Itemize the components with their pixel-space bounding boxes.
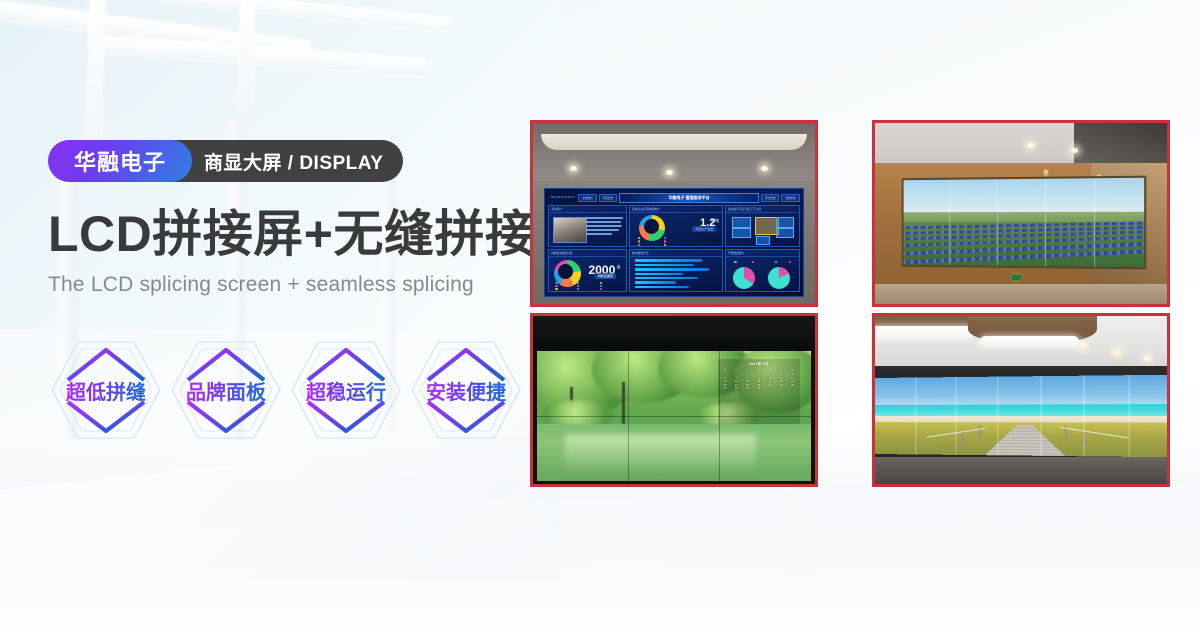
downlight xyxy=(1027,143,1034,148)
dashboard-tab[interactable]: 管理系统 xyxy=(781,194,799,202)
flow-node xyxy=(732,217,752,227)
product-photo-solar xyxy=(872,120,1170,307)
product-photo-beach xyxy=(872,313,1170,487)
calendar-day xyxy=(765,387,776,390)
dashboard-tab[interactable]: 环境监测 xyxy=(761,194,779,202)
bar xyxy=(635,259,701,261)
bar xyxy=(635,273,683,275)
photo-content: 2021年 6月 日 一 二 三 四 五 六 12345678910111213… xyxy=(533,316,815,484)
legend-dot xyxy=(555,288,557,290)
bar xyxy=(635,286,688,288)
videowall-screen xyxy=(875,375,1170,457)
legend-dot xyxy=(664,244,666,246)
brand-badge: 商显大屏 / DISPLAY 华融电子 xyxy=(48,140,192,182)
dashboard-card-area: 种植区域面积(亩) 2000 亩 种植总面积 xyxy=(548,249,627,291)
dashboard-tab[interactable]: 系统概览 xyxy=(578,194,596,202)
legend-dot xyxy=(555,282,557,284)
pie-chart xyxy=(768,267,790,289)
flow-node xyxy=(776,217,794,227)
flow-node xyxy=(756,236,770,245)
rope-post xyxy=(961,431,963,447)
calendar-title: 2021年 6月 xyxy=(720,361,798,367)
donut-hole xyxy=(558,264,573,279)
tree-trunk xyxy=(622,382,625,423)
background-wedge xyxy=(0,430,560,580)
calendar-weekday: 二 xyxy=(742,368,753,372)
legend-dot xyxy=(555,285,557,287)
rope-post xyxy=(979,425,981,437)
flow-node xyxy=(732,228,752,237)
ceiling-light xyxy=(872,326,974,338)
ceiling-light xyxy=(980,336,1079,346)
dashboard-header: 2021-06-13 16:01:27 系统概览 环境监测 华融电子 管理服务平… xyxy=(548,192,799,203)
water-reflection xyxy=(565,434,756,473)
legend-dot xyxy=(577,285,579,287)
background-smudge xyxy=(700,500,900,620)
legend-dot xyxy=(664,240,666,242)
videowall-screen: 2021-06-13 16:01:27 系统概览 环境监测 华融电子 管理服务平… xyxy=(544,188,803,297)
card-header: 基地企业资源数据统计 xyxy=(630,206,722,213)
calendar-weekday: 六 xyxy=(787,368,798,372)
legend-dot xyxy=(789,261,791,263)
calendar-day: 29 xyxy=(742,387,753,390)
product-photo-dashboard: 2021-06-13 16:01:27 系统概览 环境监测 华融电子 管理服务平… xyxy=(530,120,818,307)
legend-dot xyxy=(600,285,602,287)
dashboard-card-chain: 生态循环农业与加工产业链 xyxy=(725,205,800,247)
legend-dot xyxy=(664,237,666,239)
background-beam xyxy=(0,0,310,60)
dashboard-card-pies: 产量数据统计 xyxy=(725,249,800,291)
metric-unit: 亩 xyxy=(617,264,621,270)
exit-sign xyxy=(1012,275,1021,280)
feature-item-3: 超稳运行 xyxy=(288,336,404,444)
legend-dot xyxy=(638,244,640,246)
dashboard-grid: 基地简介 基地企业资源数据统计 xyxy=(548,205,799,292)
card-thumbnail xyxy=(553,217,587,242)
dashboard-card-intro: 基地简介 xyxy=(548,205,627,247)
card-header: 生态循环农业与加工产业链 xyxy=(726,206,799,213)
feature-label: 超稳运行 xyxy=(306,376,386,405)
feature-label: 安装便捷 xyxy=(426,376,506,405)
dashboard-title: 华融电子 管理服务平台 xyxy=(619,193,759,203)
dashboard-card-bars: 种植量统计表 xyxy=(629,249,723,291)
product-photo-lake: 2021年 6月 日 一 二 三 四 五 六 12345678910111213… xyxy=(530,313,818,487)
legend-dot xyxy=(638,240,640,242)
ceiling-cove xyxy=(541,134,806,150)
metric-unit: 万吨 xyxy=(711,218,719,224)
metric-note: 年度生产总量 xyxy=(692,226,716,232)
card-header: 种植区域面积(亩) xyxy=(549,250,626,257)
card-text-lines xyxy=(586,217,623,236)
calendar-weekday: 四 xyxy=(765,368,776,372)
page-subtitle: The LCD splicing screen + seamless splic… xyxy=(48,273,528,297)
category-badge-label: 商显大屏 / DISPLAY xyxy=(166,140,403,182)
feature-item-4: 安装便捷 xyxy=(408,336,524,444)
brand-badge-label: 华融电子 xyxy=(48,140,192,182)
videowall-screen xyxy=(904,178,1145,267)
legend-dot xyxy=(775,261,777,263)
metric-note: 种植总面积 xyxy=(595,273,616,279)
dashboard-timestamp: 2021-06-13 16:01:27 xyxy=(548,196,576,199)
card-header: 种植量统计表 xyxy=(630,250,722,257)
bar xyxy=(635,268,708,270)
photo-content: 2021-06-13 16:01:27 系统概览 环境监测 华融电子 管理服务平… xyxy=(533,123,815,304)
background-beam xyxy=(239,0,254,110)
calendar-weekday: 五 xyxy=(776,368,787,372)
legend-dot xyxy=(577,282,579,284)
videowall-frame xyxy=(902,176,1147,269)
calendar-day: 27 xyxy=(720,387,731,390)
legend-dot xyxy=(600,288,602,290)
ceiling xyxy=(533,123,815,185)
calendar-weekdays: 日 一 二 三 四 五 六 xyxy=(720,368,798,372)
headline-block: 商显大屏 / DISPLAY 华融电子 LCD拼接屏+无缝拼接 The LCD … xyxy=(48,140,528,297)
photo-content xyxy=(875,316,1167,484)
dashboard-card-resource: 基地企业资源数据统计 1.2 万吨 年度生产总量 xyxy=(629,205,723,247)
videowall-screen: 2021年 6月 日 一 二 三 四 五 六 12345678910111213… xyxy=(537,351,811,480)
page-title: LCD拼接屏+无缝拼接 xyxy=(48,208,528,261)
calendar-weekday: 日 xyxy=(720,368,731,372)
feature-label: 品牌面板 xyxy=(186,376,266,405)
card-header: 产量数据统计 xyxy=(726,250,799,257)
bar xyxy=(635,264,694,266)
flow-node xyxy=(755,217,779,235)
background-beam xyxy=(85,0,105,140)
calendar-weekday: 三 xyxy=(753,368,764,372)
calendar-day xyxy=(776,387,787,390)
feature-label: 超低拼缝 xyxy=(66,376,146,405)
bar xyxy=(635,281,675,283)
flow-node xyxy=(776,228,794,237)
feature-item-2: 品牌面板 xyxy=(168,336,284,444)
legend-dot xyxy=(638,237,640,239)
downlight xyxy=(666,170,673,175)
pie-chart xyxy=(733,267,755,289)
floor xyxy=(875,457,1167,484)
legend-dot xyxy=(734,261,736,263)
background-beam xyxy=(150,0,450,32)
background-diamond xyxy=(447,482,603,638)
legend-dot xyxy=(752,261,754,263)
card-header: 基地简介 xyxy=(549,206,626,213)
calendar-day: 26 xyxy=(787,384,798,387)
legend-dot xyxy=(577,288,579,290)
downlight xyxy=(1114,350,1121,355)
calendar-day: 30 xyxy=(753,387,764,390)
feature-list: 超低拼缝 品牌面板 超稳运行 xyxy=(48,336,524,444)
photo-content xyxy=(875,123,1167,304)
calendar-days: 1234567891011121314151617181920212223242… xyxy=(720,373,798,390)
calendar-overlay: 2021年 6月 日 一 二 三 四 五 六 12345678910111213… xyxy=(718,359,800,424)
solar-panel-rows xyxy=(904,178,1145,267)
upper-bezel xyxy=(533,316,815,348)
bar xyxy=(635,277,697,279)
floor xyxy=(875,284,1167,304)
feature-item-1: 超低拼缝 xyxy=(48,336,164,444)
dashboard-tab[interactable]: 环境监测 xyxy=(599,194,617,202)
calendar-day: 28 xyxy=(731,387,742,390)
sky xyxy=(875,375,1170,409)
calendar-weekday: 一 xyxy=(731,368,742,372)
legend-dot xyxy=(600,282,602,284)
display-product-banner: 商显大屏 / DISPLAY 华融电子 LCD拼接屏+无缝拼接 The LCD … xyxy=(0,0,1200,640)
background-beam xyxy=(95,36,425,76)
background-smudge xyxy=(330,470,580,610)
